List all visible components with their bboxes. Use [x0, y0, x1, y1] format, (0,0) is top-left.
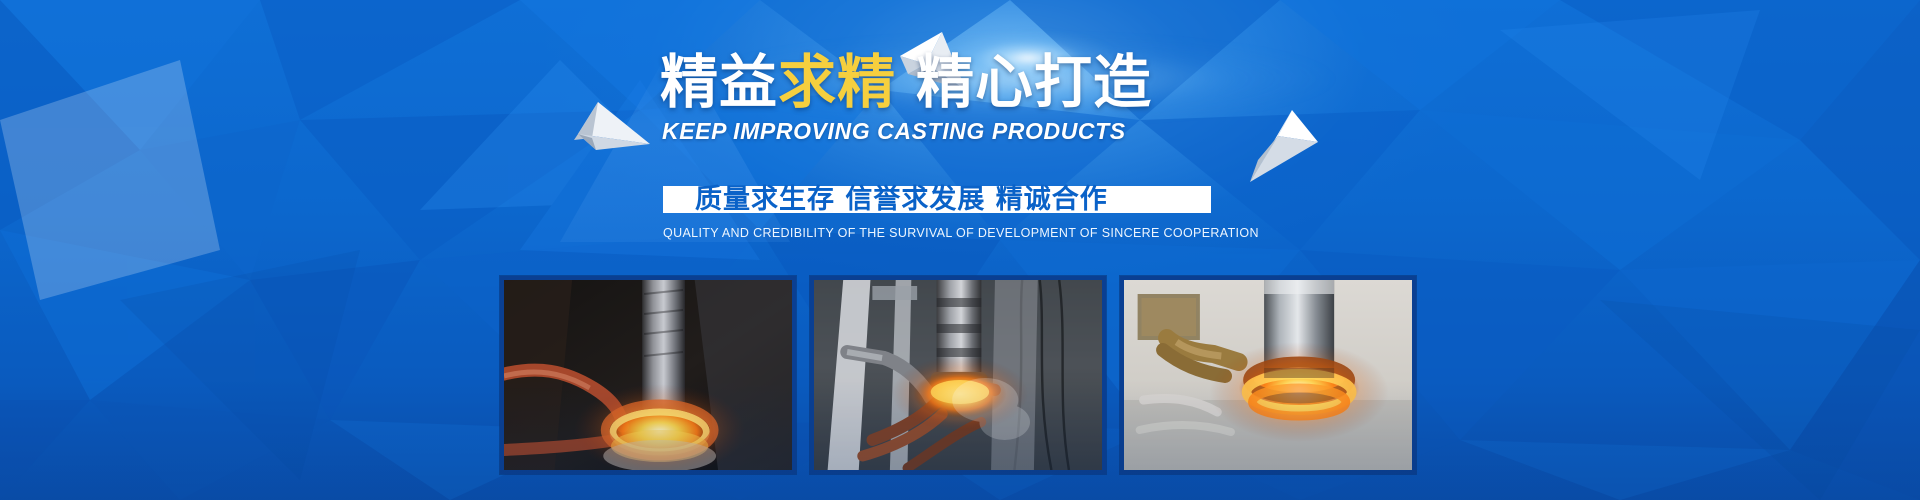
photo-induction-hardening-machine-camshaft — [814, 280, 1102, 470]
headline-part-3: 精心打造 — [916, 48, 1152, 116]
photo-induction-heating-coil-shaft-quenching — [504, 280, 792, 470]
caption-english: QUALITY AND CREDIBILITY OF THE SURVIVAL … — [663, 226, 1223, 240]
headline-part-1: 精益 — [660, 48, 778, 116]
slogan-chinese: 质量求生存 信誉求发展 精诚合作 — [695, 182, 1215, 217]
headline: 精益求精精心打造 — [660, 53, 1152, 111]
promo-banner: 精益求精精心打造 KEEP IMPROVING CASTING PRODUCTS… — [0, 0, 1920, 500]
photo-frame-2[interactable] — [810, 276, 1106, 474]
photo-induction-coil-heating-steel-cylinder — [1124, 280, 1412, 470]
subtitle-english: KEEP IMPROVING CASTING PRODUCTS — [662, 118, 1126, 145]
photo-gallery — [500, 276, 1416, 474]
headline-part-2-highlight: 求精 — [778, 48, 896, 116]
photo-frame-3[interactable] — [1120, 276, 1416, 474]
photo-frame-1[interactable] — [500, 276, 796, 474]
